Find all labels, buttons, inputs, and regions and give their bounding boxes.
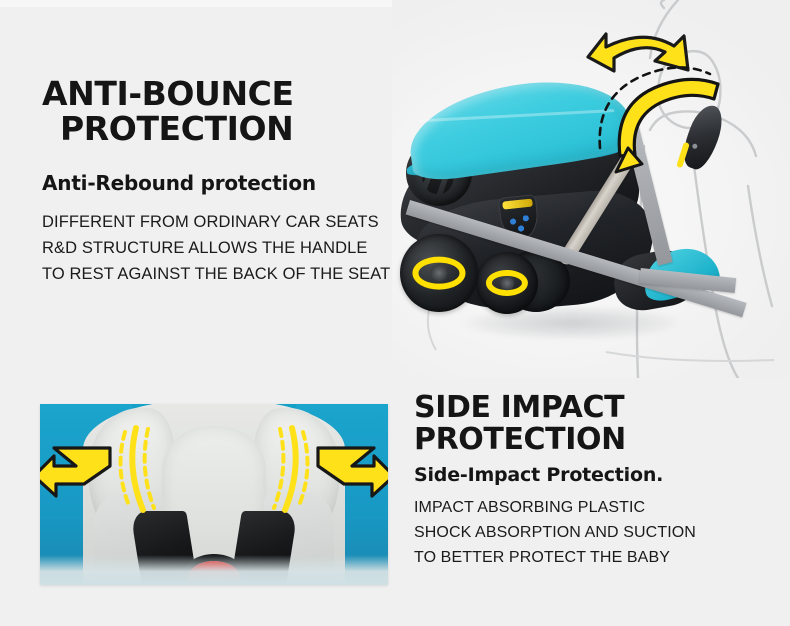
front-wheel: [400, 234, 478, 312]
side-impact-text-block: SIDE IMPACT PROTECTION Side-Impact Prote…: [414, 392, 774, 570]
right-impact-solid-curve: [285, 428, 296, 510]
left-inward-arrow-icon: [40, 448, 110, 496]
side-impact-heading: SIDE IMPACT PROTECTION: [414, 392, 774, 456]
left-impact-dashed-inner: [145, 429, 154, 508]
right-impact-dashed-outer: [298, 432, 307, 508]
anti-bounce-body-line-3: TO REST AGAINST THE BACK OF THE SEAT: [42, 261, 422, 287]
anti-bounce-heading-line1: ANTI-BOUNCE: [42, 76, 422, 111]
right-inward-arrow-icon: [318, 448, 388, 496]
anti-bounce-body-line-1: DIFFERENT FROM ORDINARY CAR SEATS: [42, 209, 422, 235]
side-impact-annotations: [40, 404, 388, 585]
anti-bounce-heading-line2: PROTECTION: [42, 111, 422, 146]
side-impact-heading-line1: SIDE IMPACT: [414, 392, 774, 424]
rear-wheel: [476, 252, 538, 314]
anti-bounce-body: DIFFERENT FROM ORDINARY CAR SEATS R&D ST…: [42, 209, 422, 287]
left-impact-solid-curve: [132, 428, 143, 510]
left-impact-dashed-outer: [121, 432, 130, 508]
side-impact-body-line-2: SHOCK ABSORPTION AND SUCTION: [414, 520, 774, 545]
anti-bounce-body-line-2: R&D STRUCTURE ALLOWS THE HANDLE: [42, 235, 422, 261]
side-impact-body: IMPACT ABSORBING PLASTIC SHOCK ABSORPTIO…: [414, 495, 774, 570]
rear-wheel-hub: [500, 276, 514, 290]
side-impact-subheading: Side-Impact Protection.: [414, 464, 774, 486]
anti-bounce-subheading: Anti-Rebound protection: [42, 171, 422, 195]
side-impact-heading-line2: PROTECTION: [414, 424, 774, 456]
side-impact-interior-photo: [40, 404, 388, 585]
car-seat-stroller-photo: [392, 0, 790, 378]
product-feature-page: ANTI-BOUNCE PROTECTION Anti-Rebound prot…: [0, 0, 790, 626]
side-impact-body-line-3: TO BETTER PROTECT THE BABY: [414, 545, 774, 570]
anti-bounce-heading: ANTI-BOUNCE PROTECTION: [42, 76, 422, 146]
side-impact-body-line-1: IMPACT ABSORBING PLASTIC: [414, 495, 774, 520]
anti-bounce-text-block: ANTI-BOUNCE PROTECTION Anti-Rebound prot…: [42, 76, 422, 287]
right-impact-dashed-inner: [274, 429, 283, 508]
product-floor-shadow: [422, 300, 722, 346]
